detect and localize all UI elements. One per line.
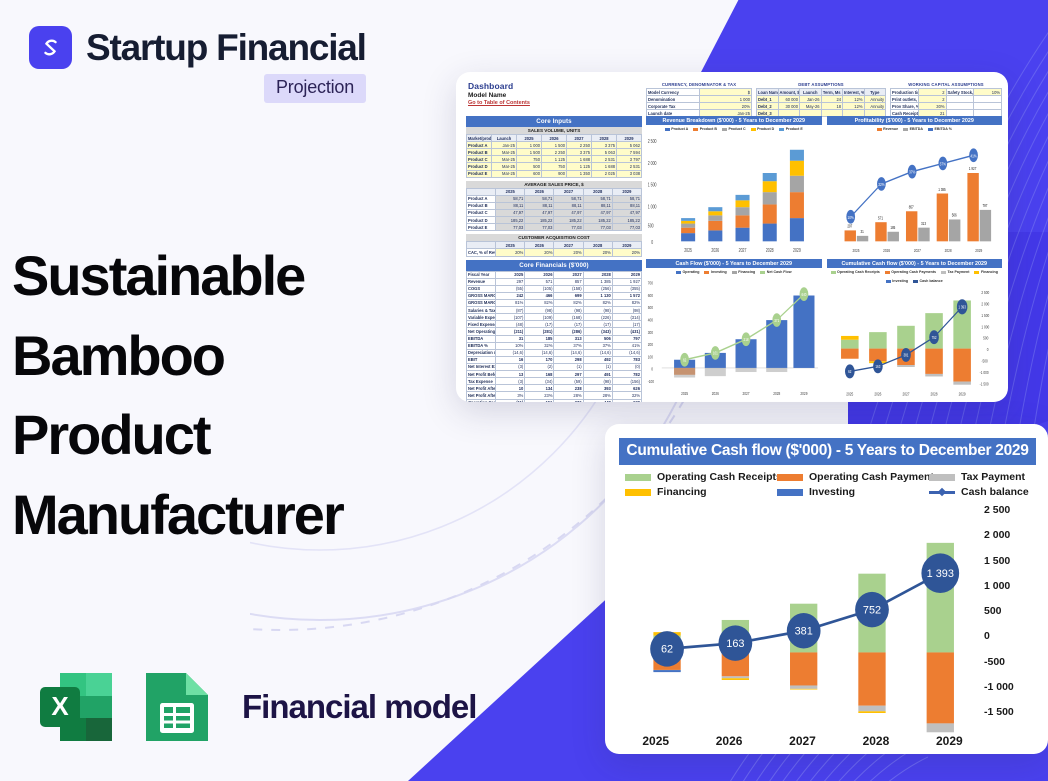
cell: Product A xyxy=(467,142,492,149)
col-head xyxy=(467,242,496,249)
chart-title: Cumulative Cash flow ($'000) - 5 Years t… xyxy=(619,438,1036,465)
cell: 28% xyxy=(554,392,583,399)
legend-item-operating-cash-payments[interactable]: Operating Cash Payments xyxy=(777,471,929,483)
cell: (98) xyxy=(525,307,554,314)
cell: 82% xyxy=(612,299,641,306)
cell: Product D xyxy=(467,163,492,170)
cell: Jan-25 xyxy=(492,142,517,149)
cumulative-cashflow-chart: Cumulative Cash flow ($'000) - 5 Years t… xyxy=(605,424,1048,754)
col-head: 2029 xyxy=(612,188,641,195)
cell: Product E xyxy=(467,224,496,231)
svg-text:41%: 41% xyxy=(970,153,977,159)
svg-text:-1 000: -1 000 xyxy=(979,369,989,375)
row-value: 1 000 xyxy=(699,96,752,103)
row-value: 20% xyxy=(699,103,752,110)
legend-label: Product E xyxy=(786,127,803,131)
col-head: Type xyxy=(864,89,886,96)
legend-item: Cash balance xyxy=(913,279,943,283)
legend-swatch xyxy=(625,489,651,496)
x-tick-label: 2028 xyxy=(839,734,912,748)
cell: 20% xyxy=(612,249,641,256)
col-head: 2025 xyxy=(496,242,525,249)
cell: (431) xyxy=(612,328,641,335)
svg-text:400: 400 xyxy=(648,317,654,323)
cell: 3 375 xyxy=(592,142,617,149)
mini-chart-plot: 2 5002 0001 500 1 0005000 20252026202720… xyxy=(646,132,822,255)
cell: 600 xyxy=(517,170,542,177)
table-row: Product DMar-255007501 1251 6882 531 xyxy=(467,163,642,170)
y-tick-label: 0 xyxy=(984,630,1036,642)
cell: Jan-26 xyxy=(800,96,822,103)
legend-label: Product B xyxy=(700,127,717,131)
cell: 31 xyxy=(496,335,525,342)
row-label: GROSS MARGIN xyxy=(467,292,496,299)
cell: 797 xyxy=(612,335,641,342)
cell: Mar-25 xyxy=(492,163,517,170)
table-row: Debt_1 60 000 Jan-26 24 12% Annuity xyxy=(757,96,886,103)
cell: Debt_2 xyxy=(757,103,779,110)
cell: 7 594 xyxy=(617,149,642,156)
legend-label: Cash balance xyxy=(961,486,1029,498)
row-label: Net Operating Expenses xyxy=(467,328,496,335)
svg-text:101: 101 xyxy=(713,350,718,356)
table-row: Product AJan-251 0001 5002 2503 3755 062 xyxy=(467,142,642,149)
data-label: 1 393 xyxy=(927,568,954,580)
x-tick-label: 2026 xyxy=(692,734,765,748)
cell xyxy=(946,96,974,103)
cell: 626 xyxy=(612,385,641,392)
row-value: 10% xyxy=(974,89,1002,96)
bar-segment xyxy=(927,652,954,723)
cell: 393 xyxy=(583,385,612,392)
legend-item-investing[interactable]: Investing xyxy=(777,486,929,498)
svg-text:2029: 2029 xyxy=(793,248,801,254)
cell: 13 xyxy=(496,371,525,378)
col-head: 2025 xyxy=(496,188,525,195)
table-row: Denomination1 000 xyxy=(647,96,752,103)
cell: 88,11 xyxy=(525,202,554,209)
table-row: Revenue2975718571 3851 927 xyxy=(467,278,642,285)
cell: (98) xyxy=(583,378,612,385)
svg-text:797: 797 xyxy=(982,202,987,208)
cell: 185,22 xyxy=(583,217,612,224)
legend-swatch xyxy=(777,489,803,496)
legend-item: EBITDA xyxy=(903,127,923,131)
table-row: Product C47,9747,9747,9747,9747,97 xyxy=(467,209,642,216)
cell: 466 xyxy=(525,292,554,299)
cell: 2 250 xyxy=(542,149,567,156)
svg-text:2025: 2025 xyxy=(684,248,692,254)
cell: 20% xyxy=(496,249,525,256)
svg-text:1 500: 1 500 xyxy=(981,312,990,318)
legend-item: Product C xyxy=(722,127,746,131)
cell: 10 xyxy=(496,385,525,392)
col-head xyxy=(467,188,496,195)
dashboard-screenshot-card[interactable]: Dashboard Model Name Go to Table of Cont… xyxy=(456,72,1008,402)
table-row: Salaries & Taxes(87)(98)(98)(98)(98) xyxy=(467,307,642,314)
legend-label: Financing xyxy=(981,270,998,274)
data-label: 163 xyxy=(726,638,744,650)
cell: (17) xyxy=(554,321,583,328)
cell: 81% xyxy=(496,299,525,306)
row-label: Depreciation & Amortization xyxy=(467,349,496,356)
chart-plot-area: 621633817521 393 2 5002 0001 5001 000500… xyxy=(619,504,1036,744)
cell: 168 xyxy=(525,371,554,378)
legend-item-tax-payment[interactable]: Tax Payment xyxy=(929,471,1036,483)
mini-chart-plot: 2 5002 0001 5001 000 5000-500-1 000-1 50… xyxy=(827,284,1003,398)
svg-text:-1 500: -1 500 xyxy=(979,381,989,387)
bar-segment xyxy=(858,652,885,705)
cell: 2029 xyxy=(612,271,641,278)
row-label: Safety Stock, % xyxy=(946,89,974,96)
svg-text:2025: 2025 xyxy=(681,391,689,397)
cell: 2025 xyxy=(496,271,525,278)
cell: 5 062 xyxy=(617,142,642,149)
cell: 58,71 xyxy=(525,195,554,202)
table-row: Operating Cash Flows(11)151276448679 xyxy=(467,399,642,402)
row-label: GROSS MARGIN % xyxy=(467,299,496,306)
table-row: GROSS MARGIN2424666991 1301 572 xyxy=(467,292,642,299)
cell: 32% xyxy=(612,392,641,399)
cell: 3 038 xyxy=(617,170,642,177)
core-inputs-title: Core Inputs xyxy=(466,116,642,127)
cell: (211) xyxy=(496,328,525,335)
cell xyxy=(974,103,1002,110)
cell: 782 xyxy=(612,371,641,378)
svg-text:300: 300 xyxy=(648,329,654,335)
cell: 900 xyxy=(542,170,567,177)
cell: 88,11 xyxy=(554,202,583,209)
cell: 1 130 xyxy=(583,292,612,299)
cell: May-26 xyxy=(800,103,822,110)
cell: 1 927 xyxy=(612,278,641,285)
debt-section-title: DEBT ASSUMPTIONS xyxy=(756,82,886,87)
cell: (355) xyxy=(612,285,641,292)
svg-text:2028: 2028 xyxy=(773,391,781,397)
cell: 679 xyxy=(612,399,641,402)
mini-chart-cumulative-cash-flow[interactable]: Cumulative Cash flow ($'000) - 5 Years t… xyxy=(827,259,1003,398)
dashboard-sheet: Dashboard Model Name Go to Table of Cont… xyxy=(456,72,1008,402)
dashboard-title: Dashboard xyxy=(468,81,530,91)
cell: 3 797 xyxy=(617,156,642,163)
cell: 151 xyxy=(525,399,554,402)
legend-item: Operating Cash Receipts xyxy=(831,270,880,274)
legend-item: Product D xyxy=(751,127,775,131)
working-capital-block: WORKING CAPITAL ASSUMPTIONS Production t… xyxy=(890,82,1002,117)
legend-label: Product D xyxy=(757,127,774,131)
cell: 77,03 xyxy=(612,224,641,231)
legend-item: Net Cash Flow xyxy=(760,270,791,274)
col-head: 2026 xyxy=(525,188,554,195)
legend-label: Revenue xyxy=(883,127,898,131)
col-head: Loan Name xyxy=(757,89,779,96)
col-head: Term, Ms xyxy=(821,89,843,96)
cell: 783 xyxy=(612,356,641,363)
svg-text:2025: 2025 xyxy=(846,391,854,397)
cell: 1 385 xyxy=(583,278,612,285)
cell xyxy=(974,96,1002,103)
row-label: Denomination xyxy=(647,96,700,103)
cell: 185,22 xyxy=(496,217,525,224)
data-label: 752 xyxy=(863,604,881,616)
svg-text:185: 185 xyxy=(890,224,895,230)
bar-segment xyxy=(790,652,817,685)
mini-chart-profitability[interactable]: Profitability ($'000) - 5 Years to Decem… xyxy=(827,116,1003,255)
col-head: Launch xyxy=(492,135,517,142)
bar-segment xyxy=(790,689,817,690)
cell: (0) xyxy=(612,363,641,370)
cell: (55) xyxy=(496,285,525,292)
row-label: Fixed Expenses xyxy=(467,321,496,328)
col-head: 2028 xyxy=(583,188,612,195)
cell: 47,97 xyxy=(525,209,554,216)
cell: 750 xyxy=(517,156,542,163)
row-label: Fiscal Year xyxy=(467,271,496,278)
col-head: 2026 xyxy=(542,135,567,142)
mini-chart-title: Revenue Breakdown ($'000) - 5 Years to D… xyxy=(646,116,822,125)
cell: 23% xyxy=(525,392,554,399)
avg-price-table: 2025 2026 2027 2028 2029 Product A58,715… xyxy=(466,188,642,232)
cell: 88,11 xyxy=(583,202,612,209)
cell: 12% xyxy=(843,103,865,110)
table-row: Fixed Expenses(48)(17)(17)(17)(17) xyxy=(467,321,642,328)
cell: (314) xyxy=(612,314,641,321)
svg-text:1 927: 1 927 xyxy=(968,166,975,172)
cell: Mar-25 xyxy=(492,149,517,156)
row-label: Net Interest Expense xyxy=(467,363,496,370)
cell: 37% xyxy=(554,342,583,349)
cell: 32% xyxy=(525,342,554,349)
page-title: Sustainable Bamboo Product Manufacturer xyxy=(12,236,442,554)
svg-text:10%: 10% xyxy=(847,214,854,220)
legend-item-cash-balance[interactable]: Cash balance xyxy=(929,486,1036,498)
cell: 3 375 xyxy=(567,149,592,156)
legend-item-operating-cash-receipts[interactable]: Operating Cash Receipts xyxy=(625,471,777,483)
svg-text:2 500: 2 500 xyxy=(981,289,990,295)
cell: 18 xyxy=(821,103,843,110)
svg-text:-100: -100 xyxy=(648,378,655,384)
brand-title: Startup Financial xyxy=(86,29,366,66)
row-value: 30% xyxy=(918,103,946,110)
cell: 2026 xyxy=(525,271,554,278)
cell: Annuity xyxy=(864,103,886,110)
svg-text:2 000: 2 000 xyxy=(981,301,990,307)
mini-chart-plot: 10%32%37%37%41% 29731 571185 857313 1 38… xyxy=(827,132,1003,255)
wc-section-title: WORKING CAPITAL ASSUMPTIONS xyxy=(890,82,1002,87)
cell: 30 000 xyxy=(778,103,800,110)
cell: 77,03 xyxy=(583,224,612,231)
legend-label: EBITDA xyxy=(910,127,923,131)
cac-table: 2025 2026 2027 2028 2029 CAC, % of Reven… xyxy=(466,241,642,256)
svg-text:37%: 37% xyxy=(908,169,915,175)
svg-text:2 000: 2 000 xyxy=(648,160,657,166)
cell: (17) xyxy=(525,321,554,328)
mini-chart-title: Cumulative Cash flow ($'000) - 5 Years t… xyxy=(827,259,1003,268)
svg-text:600: 600 xyxy=(648,292,654,298)
svg-text:752: 752 xyxy=(931,335,936,340)
col-head: Interest, % xyxy=(843,89,865,96)
col-head: 2029 xyxy=(617,135,642,142)
y-tick-label: 1 000 xyxy=(984,580,1036,592)
debt-table: Loan Name Amount, $ Launch Term, Ms Inte… xyxy=(756,88,886,117)
table-row: Product CMar-257501 1251 6882 5313 797 xyxy=(467,156,642,163)
core-financials-table: Fiscal Year20252026202720282029Revenue29… xyxy=(466,271,642,402)
cell: 58,71 xyxy=(554,195,583,202)
svg-text:31: 31 xyxy=(860,228,863,234)
svg-text:2028: 2028 xyxy=(944,248,952,254)
avg-price-title: AVERAGE SALES PRICE, $ xyxy=(466,181,642,188)
y-tick-label: 500 xyxy=(984,605,1036,617)
legend-item-financing[interactable]: Financing xyxy=(625,486,777,498)
svg-text:381: 381 xyxy=(903,353,908,358)
cell: Product D xyxy=(467,217,496,224)
cell: (1) xyxy=(583,363,612,370)
debt-assumptions-block: DEBT ASSUMPTIONS Loan Name Amount, $ Lau… xyxy=(756,82,886,117)
cumulative-cashflow-card[interactable]: Cumulative Cash flow ($'000) - 5 Years t… xyxy=(605,424,1048,754)
x-tick-label: 2027 xyxy=(766,734,839,748)
x-axis-category-labels: 20252026202720282029 xyxy=(619,730,986,752)
table-row: Print outlets, Ms 2 xyxy=(891,96,1002,103)
legend-label: Operating Cash Receipts xyxy=(837,270,880,274)
cell: (3) xyxy=(496,363,525,370)
cell: (281) xyxy=(525,328,554,335)
svg-text:2026: 2026 xyxy=(712,391,720,397)
headline-line-2: Bamboo xyxy=(12,316,442,396)
cell: (226) xyxy=(583,314,612,321)
cell: (14,6) xyxy=(612,349,641,356)
y-tick-label: -1 000 xyxy=(984,681,1036,693)
table-header-row: 2025 2026 2027 2028 2029 xyxy=(467,242,642,249)
table-row: COGS(55)(105)(158)(256)(355) xyxy=(467,285,642,292)
cell: 2027 xyxy=(554,271,583,278)
cell: 491 xyxy=(583,371,612,378)
bar-segment xyxy=(858,711,885,713)
legend-label: Operating xyxy=(682,270,699,274)
y-tick-label: 1 500 xyxy=(984,555,1036,567)
svg-text:313: 313 xyxy=(921,220,926,226)
headline-line-4: Manufacturer xyxy=(12,475,442,555)
legend-label: Financing xyxy=(657,486,707,498)
svg-text:2027: 2027 xyxy=(913,248,921,254)
table-row: Net Profit Before Tax13168297491782 xyxy=(467,371,642,378)
svg-text:2 500: 2 500 xyxy=(648,138,657,144)
row-value: 2 xyxy=(918,96,946,103)
cell: 58,71 xyxy=(612,195,641,202)
svg-text:200: 200 xyxy=(648,341,654,347)
cell: 77,03 xyxy=(554,224,583,231)
bar-segment xyxy=(858,706,885,712)
cell: 1 125 xyxy=(542,156,567,163)
headline-line-3: Product xyxy=(12,395,442,475)
cell: 1 500 xyxy=(542,142,567,149)
working-capital-table: Production time, Ms 2 Safety Stock, % 10… xyxy=(890,88,1002,117)
svg-text:500: 500 xyxy=(648,223,654,229)
currency-assumptions-block: CURRENCY, DENOMINATOR & TAX Model Curren… xyxy=(646,82,752,117)
cell: (156) xyxy=(612,378,641,385)
col-head: 2027 xyxy=(567,135,592,142)
cell: (168) xyxy=(554,314,583,321)
cell: 82% xyxy=(583,299,612,306)
legend-label: Tax Payment xyxy=(961,471,1025,483)
cell: 47,97 xyxy=(496,209,525,216)
mini-chart-title: Profitability ($'000) - 5 Years to Decem… xyxy=(827,116,1003,125)
cell: (2) xyxy=(525,363,554,370)
cell: (34) xyxy=(525,378,554,385)
svg-text:1 393: 1 393 xyxy=(958,305,965,310)
mini-chart-legend: Product A Product B Product C Product D … xyxy=(646,125,822,132)
cell: Product C xyxy=(467,209,496,216)
cell: 2 531 xyxy=(592,156,617,163)
cell: (48) xyxy=(496,321,525,328)
cell: (14,6) xyxy=(583,349,612,356)
svg-text:2028: 2028 xyxy=(930,391,937,397)
legend-item: EBITDA % xyxy=(928,127,952,131)
col-head: 2028 xyxy=(583,242,612,249)
toc-link[interactable]: Go to Table of Contents xyxy=(468,100,530,106)
svg-text:2027: 2027 xyxy=(743,391,751,397)
col-head: Amount, $ xyxy=(778,89,800,96)
row-label: Production time, Ms xyxy=(891,89,919,96)
svg-text:857: 857 xyxy=(908,204,913,210)
cell: (107) xyxy=(496,314,525,321)
row-label: Prov Share, % xyxy=(891,103,919,110)
cell: 699 xyxy=(554,292,583,299)
cell: 2 025 xyxy=(592,170,617,177)
format-label: Financial model xyxy=(242,688,476,726)
cell: (98) xyxy=(554,307,583,314)
cell: (105) xyxy=(525,285,554,292)
row-label: EBITDA xyxy=(467,335,496,342)
bar-segment xyxy=(790,685,817,688)
cell: (109) xyxy=(525,314,554,321)
svg-text:2027: 2027 xyxy=(902,391,909,397)
cell: 24 xyxy=(821,96,843,103)
legend-label: Product A xyxy=(671,127,688,131)
table-row: Model Currency$ xyxy=(647,89,752,96)
legend-item: Financing xyxy=(732,270,755,274)
table-row: CAC, % of Revenue20%20%20%20%20% xyxy=(467,249,642,256)
svg-text:0: 0 xyxy=(651,366,653,372)
cell: (87) xyxy=(496,307,525,314)
table-row: Tax Expense(3)(34)(59)(98)(156) xyxy=(467,378,642,385)
mini-chart-revenue-breakdown[interactable]: Revenue Breakdown ($'000) - 5 Years to D… xyxy=(646,116,822,255)
table-row: Fiscal Year20252026202720282029 xyxy=(467,271,642,278)
row-value: $ xyxy=(699,89,752,96)
cell: (98) xyxy=(612,307,641,314)
mini-chart-legend: Revenue EBITDA EBITDA % xyxy=(827,125,1003,132)
sales-volume-title: SALES VOLUME, UNITS xyxy=(466,127,642,134)
row-label: COGS xyxy=(467,285,496,292)
svg-text:2027: 2027 xyxy=(739,248,747,254)
mini-chart-cash-flow[interactable]: Cash Flow ($'000) - 5 Years to December … xyxy=(646,259,822,398)
cell: 28% xyxy=(583,392,612,399)
cell: 47,97 xyxy=(612,209,641,216)
table-row: Depreciation & Amortization(14,6)(14,6)(… xyxy=(467,349,642,356)
svg-text:62: 62 xyxy=(683,357,686,363)
legend-label: Operating Cash Payments xyxy=(891,270,936,274)
cell: 88,11 xyxy=(612,202,641,209)
legend-label: Investing xyxy=(809,486,855,498)
legend-item: Product A xyxy=(665,127,689,131)
cell: 47,97 xyxy=(554,209,583,216)
cell: Mar-25 xyxy=(492,156,517,163)
svg-text:2029: 2029 xyxy=(800,391,808,397)
cell: 60 000 xyxy=(778,96,800,103)
row-label: Revenue xyxy=(467,278,496,285)
y-tick-label: -1 500 xyxy=(984,706,1036,718)
table-row: Net Operating Expenses(211)(281)(286)(34… xyxy=(467,328,642,335)
svg-text:297: 297 xyxy=(847,223,852,229)
